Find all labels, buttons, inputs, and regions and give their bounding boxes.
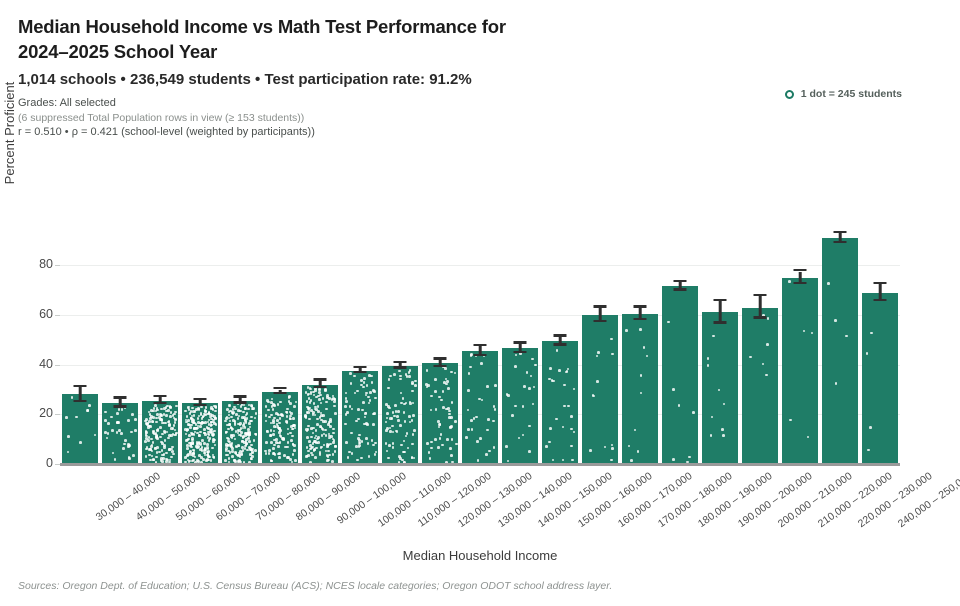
student-dot	[467, 389, 470, 392]
student-dot	[268, 416, 271, 419]
student-dot	[273, 404, 276, 407]
student-dot	[86, 409, 89, 412]
bar-series	[60, 228, 900, 464]
student-dot	[209, 416, 212, 419]
student-dot	[325, 408, 328, 411]
x-label-cell: 200,000 – 210,000	[740, 466, 780, 556]
student-dot	[155, 421, 158, 424]
student-dot	[571, 459, 574, 462]
student-dot	[306, 400, 309, 403]
student-dot	[270, 401, 273, 404]
student-dot	[551, 379, 554, 382]
student-dot	[562, 426, 565, 429]
student-dot	[399, 378, 402, 381]
student-dot	[373, 390, 376, 393]
bar-cell[interactable]	[300, 228, 340, 464]
student-dot	[292, 424, 295, 427]
student-dot	[307, 450, 310, 453]
student-dot	[314, 456, 317, 459]
bar-cell[interactable]	[620, 228, 660, 464]
bar[interactable]	[142, 401, 178, 464]
student-dot	[116, 421, 119, 424]
student-dot	[212, 438, 215, 441]
error-cap-upper	[834, 231, 847, 233]
student-dot	[596, 355, 599, 358]
student-dot	[447, 387, 450, 390]
student-dot	[122, 447, 125, 450]
student-dot	[310, 436, 313, 439]
student-dot	[528, 387, 531, 390]
student-dot	[604, 446, 607, 449]
student-dot	[150, 438, 153, 441]
student-dot	[214, 444, 217, 447]
student-dot	[170, 456, 173, 459]
bar[interactable]	[462, 351, 498, 464]
student-dot	[400, 402, 403, 405]
student-dot	[368, 402, 371, 405]
error-cap-upper	[474, 344, 487, 346]
student-dot	[345, 397, 348, 400]
student-dot	[127, 419, 130, 422]
student-dot	[107, 422, 110, 425]
student-dot	[366, 384, 369, 387]
student-dot	[870, 332, 873, 335]
student-dot	[205, 459, 208, 462]
student-dot	[242, 411, 245, 414]
student-dot	[265, 405, 268, 408]
student-dot	[197, 417, 200, 420]
x-label-cell: 150,000 – 160,000	[540, 466, 580, 556]
student-dot	[334, 412, 337, 415]
bar-cell[interactable]	[380, 228, 420, 464]
student-dot	[412, 402, 415, 405]
student-dot	[365, 437, 368, 440]
student-dot	[528, 450, 531, 453]
student-dot	[367, 442, 370, 445]
student-dot	[514, 405, 517, 408]
student-dot	[667, 321, 670, 324]
student-dot	[278, 456, 281, 459]
student-dot	[434, 378, 437, 381]
student-dot	[639, 328, 642, 331]
bar-cell[interactable]	[500, 228, 540, 464]
student-dot	[445, 383, 448, 386]
student-dot	[334, 445, 337, 448]
error-cap-lower	[434, 365, 447, 367]
student-dot	[365, 412, 368, 415]
student-dot	[476, 440, 479, 443]
student-dot	[250, 416, 253, 419]
student-dot	[450, 454, 453, 457]
student-dot	[470, 354, 473, 357]
student-dot	[169, 406, 172, 409]
student-dot	[173, 424, 176, 427]
student-dot	[327, 450, 330, 453]
student-dot	[610, 459, 613, 462]
student-dot	[168, 448, 171, 451]
student-dot	[307, 428, 310, 431]
student-dot	[351, 452, 354, 455]
student-dot	[304, 414, 307, 417]
student-dot	[430, 409, 433, 412]
student-dot	[332, 432, 335, 435]
student-dot	[128, 457, 131, 460]
student-dot	[184, 410, 187, 413]
student-dot	[248, 437, 251, 440]
student-dot	[721, 428, 724, 431]
student-dot	[437, 446, 440, 449]
student-dot	[151, 455, 154, 458]
student-dot	[311, 454, 314, 457]
student-dot	[345, 441, 348, 444]
student-dot	[451, 438, 454, 441]
student-dot	[711, 416, 714, 419]
student-dot	[610, 338, 613, 341]
bar[interactable]	[662, 286, 698, 464]
error-cap-lower	[554, 343, 567, 345]
student-dot	[228, 457, 231, 460]
student-dot	[357, 408, 360, 411]
student-dot	[114, 458, 117, 461]
student-dot	[231, 442, 234, 445]
bar-cell[interactable]	[740, 228, 780, 464]
bar-cell[interactable]	[220, 228, 260, 464]
student-dot	[268, 452, 271, 455]
student-dot	[266, 399, 269, 402]
student-dot	[186, 415, 189, 418]
student-dot	[315, 447, 318, 450]
student-dot	[563, 384, 566, 387]
student-dot	[191, 433, 194, 436]
student-dot	[144, 440, 147, 443]
bar[interactable]	[862, 293, 898, 464]
student-dot	[723, 403, 726, 406]
student-dot	[159, 426, 162, 429]
student-dot	[172, 453, 175, 456]
student-dot	[65, 416, 68, 419]
student-dot	[286, 408, 289, 411]
student-dot	[469, 366, 472, 369]
student-dot	[255, 412, 258, 415]
student-dot	[611, 353, 614, 356]
student-dot	[198, 434, 201, 437]
student-dot	[388, 444, 391, 447]
bar[interactable]	[382, 366, 418, 464]
student-dot	[625, 329, 628, 332]
error-cap-upper	[434, 357, 447, 359]
student-dot	[124, 439, 127, 442]
student-dot	[640, 392, 643, 395]
student-dot	[67, 451, 70, 454]
student-dot	[265, 414, 268, 417]
student-dot	[265, 420, 268, 423]
student-dot	[396, 415, 399, 418]
student-dot	[374, 453, 377, 456]
student-dot	[145, 431, 148, 434]
student-dot	[386, 417, 389, 420]
student-dot	[204, 433, 207, 436]
student-dot	[71, 396, 74, 399]
bar[interactable]	[622, 314, 658, 464]
student-dot	[253, 439, 256, 442]
student-dot	[288, 395, 291, 398]
bar[interactable]	[342, 371, 378, 464]
bar-cell[interactable]	[580, 228, 620, 464]
student-dot	[315, 429, 318, 432]
student-dot	[317, 405, 320, 408]
bar[interactable]	[742, 308, 778, 465]
student-dot	[152, 441, 155, 444]
student-dot	[209, 437, 212, 440]
student-dot	[835, 382, 838, 385]
student-dot	[845, 335, 848, 338]
error-cap-upper	[154, 395, 167, 397]
student-dot	[678, 404, 681, 407]
error-cap-upper	[394, 361, 407, 363]
student-dot	[630, 459, 633, 462]
student-dot	[75, 416, 78, 419]
student-dot	[333, 405, 336, 408]
student-dot	[320, 447, 323, 450]
student-dot	[247, 408, 250, 411]
student-dot	[293, 405, 296, 408]
student-dot	[289, 402, 292, 405]
bar-cell[interactable]	[780, 228, 820, 464]
student-dot	[372, 413, 375, 416]
student-dot	[291, 435, 294, 438]
student-dot	[358, 434, 361, 437]
student-dot	[327, 459, 330, 462]
student-dot	[241, 440, 244, 443]
student-dot	[213, 456, 216, 459]
student-dot	[199, 448, 202, 451]
student-dot	[413, 429, 416, 432]
student-dot	[272, 433, 275, 436]
student-dot	[549, 427, 552, 430]
y-axis-title: Percent Proficient	[2, 23, 17, 243]
student-dot	[290, 439, 293, 442]
bar-cell[interactable]	[460, 228, 500, 464]
error-cap-lower	[474, 354, 487, 356]
error-cap-lower	[714, 321, 727, 323]
student-dot	[150, 415, 153, 418]
student-dot	[197, 442, 200, 445]
student-dot	[287, 441, 290, 444]
student-dot	[276, 419, 279, 422]
student-dot	[164, 439, 167, 442]
student-dot	[507, 394, 510, 397]
bar-cell[interactable]	[860, 228, 900, 464]
student-dot	[475, 416, 478, 419]
student-dot	[306, 446, 309, 449]
student-dot	[149, 459, 152, 462]
student-dot	[514, 365, 517, 368]
student-dot	[394, 404, 397, 407]
student-dot	[597, 351, 600, 354]
student-dot	[386, 450, 389, 453]
x-label-cell: 190,000 – 200,000	[700, 466, 740, 556]
student-dot	[332, 428, 335, 431]
student-dot	[170, 434, 173, 437]
student-dot	[273, 430, 276, 433]
bar[interactable]	[62, 394, 98, 464]
student-dot	[465, 436, 468, 439]
student-dot	[209, 431, 212, 434]
student-dot	[272, 421, 275, 424]
student-dot	[132, 454, 135, 457]
student-dot	[286, 456, 289, 459]
student-dot	[281, 414, 284, 417]
student-dot	[145, 418, 148, 421]
student-dot	[325, 401, 328, 404]
student-dot	[120, 432, 123, 435]
student-dot	[277, 445, 280, 448]
student-dot	[493, 446, 496, 449]
student-dot	[570, 415, 573, 418]
student-dot	[252, 407, 255, 410]
bar[interactable]	[182, 403, 218, 464]
student-dot	[167, 409, 170, 412]
student-dot	[807, 436, 810, 439]
student-dot	[470, 419, 473, 422]
student-dot	[265, 441, 268, 444]
bar[interactable]	[222, 401, 258, 464]
student-dot	[156, 446, 159, 449]
student-dot	[189, 444, 192, 447]
bar-cell[interactable]	[260, 228, 300, 464]
student-dot	[195, 427, 198, 430]
student-dot	[404, 420, 407, 423]
bar[interactable]	[782, 278, 818, 464]
student-dot	[228, 404, 231, 407]
bar-cell[interactable]	[340, 228, 380, 464]
x-label-cell: 160,000 – 170,000	[580, 466, 620, 556]
student-dot	[646, 355, 649, 358]
student-dot	[229, 451, 232, 454]
bar[interactable]	[502, 348, 538, 464]
student-dot	[440, 433, 443, 436]
bar-cell[interactable]	[700, 228, 740, 464]
error-cap-upper	[554, 334, 567, 336]
error-cap-lower	[394, 366, 407, 368]
student-dot	[411, 390, 414, 393]
student-dot	[392, 442, 395, 445]
student-dot	[294, 459, 297, 462]
student-dot	[414, 384, 417, 387]
student-dot	[488, 450, 491, 453]
bar-cell[interactable]	[140, 228, 180, 464]
bar-cell[interactable]	[660, 228, 700, 464]
student-dot	[199, 425, 202, 428]
student-dot	[319, 451, 322, 454]
student-dot	[249, 434, 252, 437]
student-dot	[362, 386, 365, 389]
error-cap-lower	[114, 405, 127, 407]
bar[interactable]	[302, 385, 338, 464]
student-dot	[344, 405, 347, 408]
student-dot	[289, 432, 292, 435]
student-dot	[408, 371, 411, 374]
bar[interactable]	[542, 341, 578, 464]
x-label-cell: 70,000 – 80,000	[220, 466, 260, 556]
student-dot	[104, 411, 107, 414]
student-dot	[207, 450, 210, 453]
bar-cell[interactable]	[540, 228, 580, 464]
student-dot	[307, 454, 310, 457]
student-dot	[251, 452, 254, 455]
bar[interactable]	[582, 315, 618, 464]
student-dot	[446, 438, 449, 441]
student-dot	[316, 438, 319, 441]
student-dot	[533, 386, 536, 389]
student-dot	[279, 401, 282, 404]
student-dot	[270, 422, 273, 425]
student-dot	[291, 428, 294, 431]
student-dot	[344, 423, 347, 426]
student-dot	[505, 445, 508, 448]
student-dot	[468, 372, 471, 375]
student-dot	[385, 403, 388, 406]
student-dot	[202, 416, 205, 419]
student-dot	[315, 442, 318, 445]
student-dot	[155, 417, 158, 420]
student-dot	[360, 457, 363, 460]
student-dot	[317, 410, 320, 413]
student-dot	[107, 432, 110, 435]
bar[interactable]	[702, 312, 738, 464]
bar-cell[interactable]	[820, 228, 860, 464]
student-dot	[346, 411, 349, 414]
x-label-cell: 120,000 – 130,000	[420, 466, 460, 556]
student-dot	[765, 374, 768, 377]
bar-cell[interactable]	[100, 228, 140, 464]
student-dot	[534, 364, 537, 367]
bar-cell[interactable]	[180, 228, 220, 464]
student-dot	[244, 432, 247, 435]
student-dot	[412, 414, 415, 417]
bar[interactable]	[262, 392, 298, 464]
student-dot	[403, 440, 406, 443]
student-dot	[345, 400, 348, 403]
student-dot	[570, 445, 573, 448]
x-label-cell: 60,000 – 70,000	[180, 466, 220, 556]
bar[interactable]	[102, 403, 138, 464]
student-dot	[548, 378, 551, 381]
student-dot	[165, 414, 168, 417]
student-dot	[237, 417, 240, 420]
student-dot	[434, 438, 437, 441]
student-dot	[351, 408, 354, 411]
student-dot	[134, 418, 137, 421]
student-dot	[788, 280, 791, 283]
bar[interactable]	[422, 363, 458, 464]
student-dot	[435, 408, 438, 411]
student-dot	[518, 437, 521, 440]
student-dot	[160, 418, 163, 421]
bar[interactable]	[822, 238, 858, 464]
student-dot	[289, 458, 292, 461]
student-dot	[526, 371, 529, 374]
student-dot	[237, 429, 240, 432]
bar-cell[interactable]	[420, 228, 460, 464]
student-dot	[326, 396, 329, 399]
student-dot	[165, 452, 168, 455]
error-cap-upper	[194, 398, 207, 400]
student-dot	[193, 433, 196, 436]
student-dot	[762, 363, 765, 366]
student-dot	[187, 429, 190, 432]
bar-cell[interactable]	[60, 228, 100, 464]
